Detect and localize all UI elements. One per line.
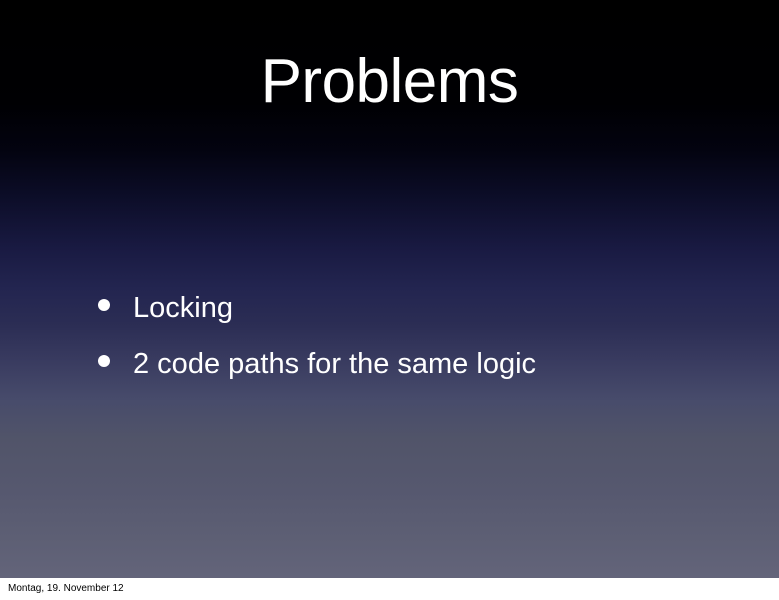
bullet-text: 2 code paths for the same logic [133,346,536,382]
bullet-dot-icon [98,299,110,311]
footer-strip: Montag, 19. November 12 [0,578,779,600]
bullet-dot-icon [98,355,110,367]
presentation-viewer: Problems Locking 2 code paths for the sa… [0,0,779,600]
bullet-text: Locking [133,290,233,326]
list-item: Locking [98,290,698,326]
list-item: 2 code paths for the same logic [98,346,698,382]
slide-title: Problems [0,48,779,116]
footer-date-label: Montag, 19. November 12 [8,582,124,596]
slide: Problems Locking 2 code paths for the sa… [0,0,779,578]
bullet-list: Locking 2 code paths for the same logic [98,290,698,383]
